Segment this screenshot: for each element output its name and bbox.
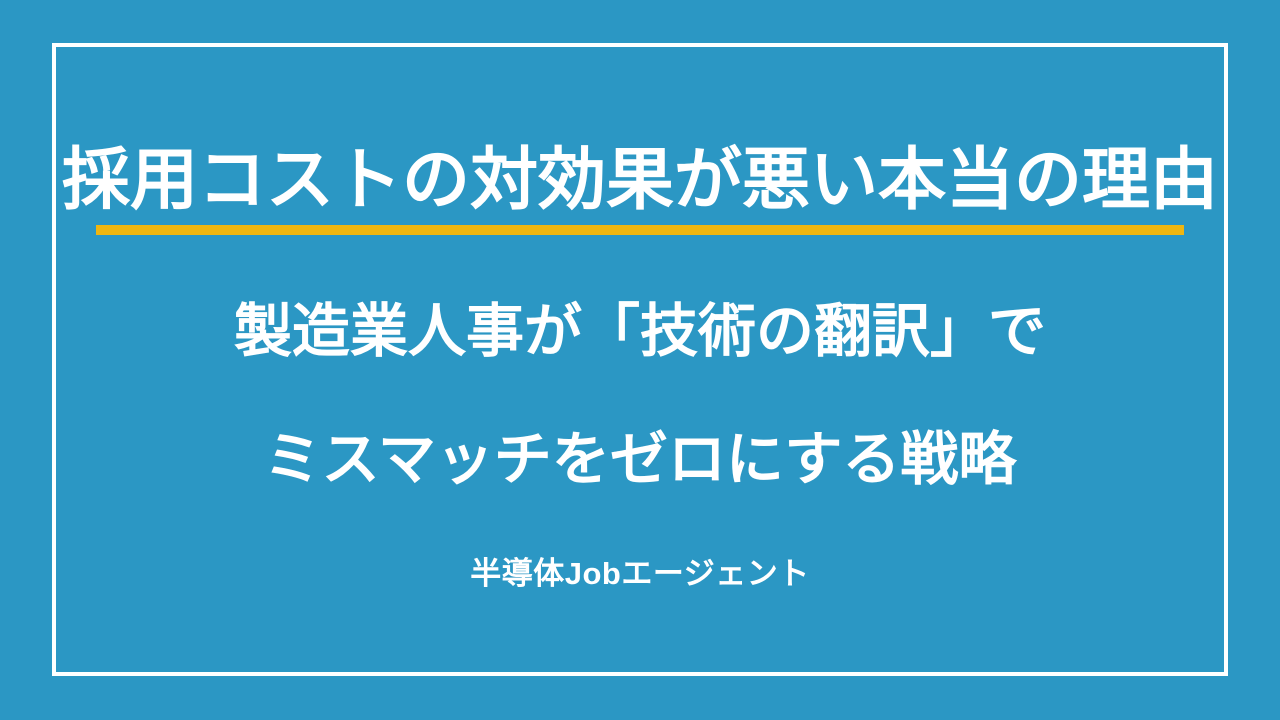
headline-accent-rule xyxy=(96,225,1184,235)
headline-text: 採用コストの対効果が悪い本当の理由 xyxy=(0,140,1280,220)
brand-block: 半導体Jobエージェント xyxy=(0,552,1280,596)
subtitle-block: 製造業人事が「技術の翻訳」で ミスマッチをゼロにする戦略 xyxy=(0,268,1280,524)
slide-content: 採用コストの対効果が悪い本当の理由 製造業人事が「技術の翻訳」で ミスマッチをゼ… xyxy=(0,0,1280,720)
brand-name: 半導体Jobエージェント xyxy=(470,552,810,596)
subtitle-line-1: 製造業人事が「技術の翻訳」で xyxy=(0,268,1280,396)
subtitle-line-2: ミスマッチをゼロにする戦略 xyxy=(0,396,1280,524)
title-slide: 採用コストの対効果が悪い本当の理由 製造業人事が「技術の翻訳」で ミスマッチをゼ… xyxy=(0,0,1280,720)
headline-block: 採用コストの対効果が悪い本当の理由 xyxy=(0,140,1280,235)
